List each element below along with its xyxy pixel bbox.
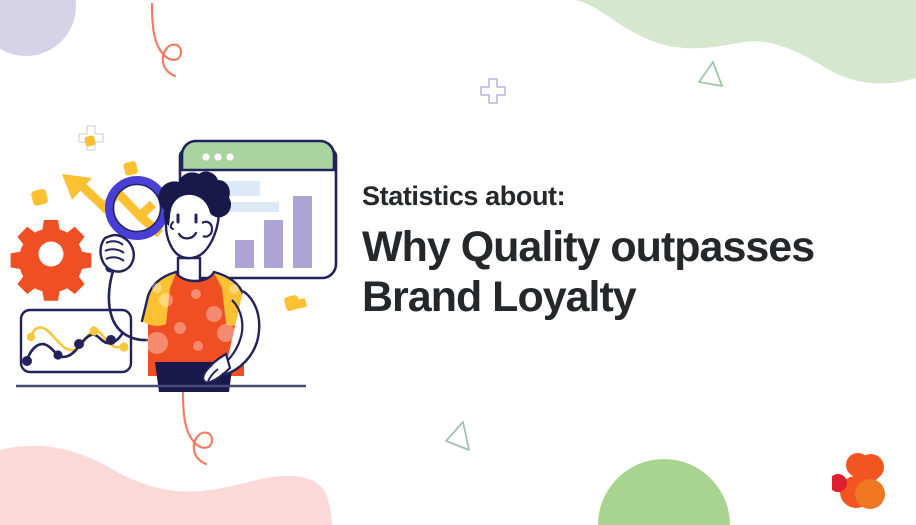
shirt-dot-6 bbox=[193, 341, 203, 351]
bar-chart-bar-1 bbox=[235, 240, 254, 268]
line-chart-dot-navy-4 bbox=[106, 335, 116, 345]
magnifier-ring bbox=[109, 180, 165, 236]
headline-line-1: Why Quality outpasses bbox=[362, 222, 882, 273]
browser-dot-3 bbox=[226, 153, 233, 160]
gear-icon-illustration bbox=[11, 220, 92, 301]
poster-canvas: Statistics about: Why Quality outpasses … bbox=[0, 0, 916, 525]
shirt-dot-2 bbox=[191, 289, 201, 299]
character-left-hand bbox=[101, 235, 134, 271]
character-ear bbox=[202, 222, 212, 237]
headline-text-block: Statistics about: Why Quality outpasses … bbox=[362, 182, 882, 323]
browser-dot-2 bbox=[214, 153, 221, 160]
shirt-dot-3 bbox=[206, 306, 222, 322]
headline-line-2: Brand Loyalty bbox=[362, 272, 882, 323]
molecule-logo bbox=[832, 452, 904, 514]
accent-square-2 bbox=[123, 160, 139, 176]
eyebrow-text: Statistics about: bbox=[362, 182, 882, 212]
line-chart-dot-navy-1 bbox=[22, 356, 32, 366]
gear-hole bbox=[39, 242, 64, 267]
page-title: Why Quality outpasses Brand Loyalty bbox=[362, 222, 882, 323]
hand-palm bbox=[101, 235, 134, 271]
line-chart-dot-yellow-2 bbox=[89, 326, 98, 335]
logo-large-dot bbox=[855, 479, 885, 509]
line-chart-dot-yellow-3 bbox=[119, 342, 128, 351]
shirt-dot-8 bbox=[152, 283, 162, 293]
line-chart-card-illustration bbox=[21, 310, 131, 372]
accent-square-1 bbox=[31, 188, 49, 206]
browser-dot-1 bbox=[202, 153, 209, 160]
logo-medium-dot bbox=[846, 453, 870, 477]
shirt-dot-4 bbox=[174, 322, 186, 334]
line-chart-dot-navy-2 bbox=[53, 350, 62, 359]
bar-chart-bar-3 bbox=[293, 196, 312, 268]
line-chart-dot-yellow-1 bbox=[27, 333, 35, 341]
shirt-dot-1 bbox=[159, 293, 173, 307]
line-chart-dot-navy-3 bbox=[74, 339, 84, 349]
shirt-dot-7 bbox=[146, 332, 168, 354]
shirt-dot-9 bbox=[229, 284, 239, 294]
bar-chart-bar-2 bbox=[264, 220, 283, 268]
